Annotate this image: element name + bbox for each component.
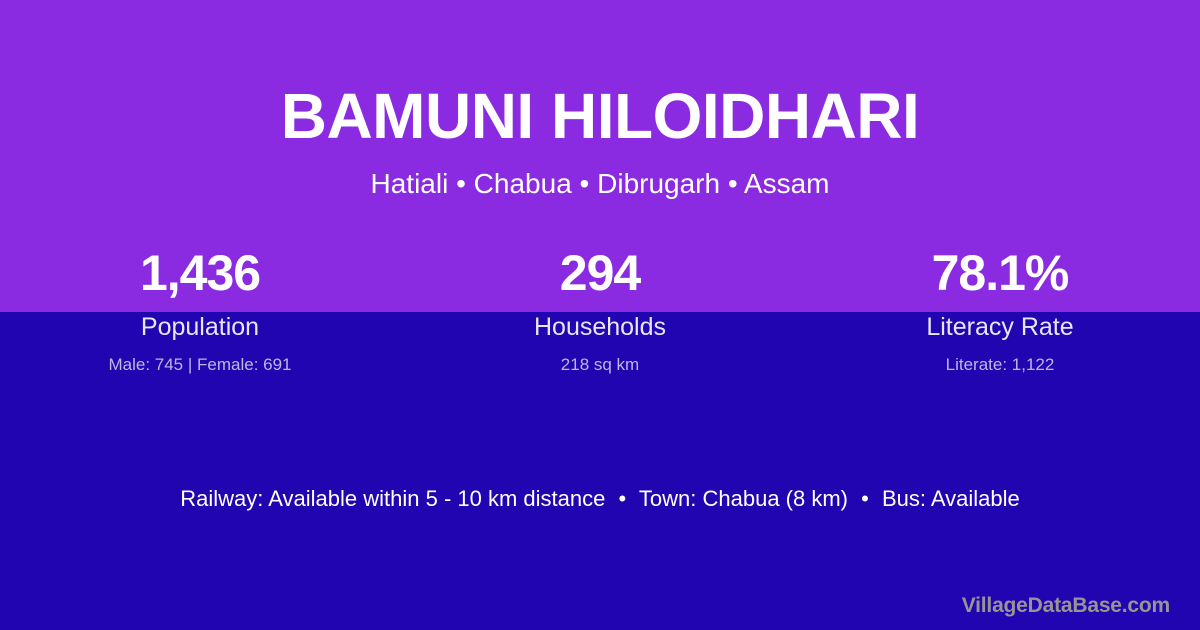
stat-detail: Male: 745 | Female: 691 [0, 356, 400, 373]
stat-detail: 218 sq km [400, 356, 800, 373]
bullet-separator-icon: • [854, 486, 876, 511]
stat-label: Households [400, 315, 800, 340]
card-header: BAMUNI HILOIDHARI Hatiali • Chabua • Dib… [0, 0, 1200, 198]
stat-population: 1,436 Population Male: 745 | Female: 691 [0, 248, 400, 373]
amenities-line: Railway: Available within 5 - 10 km dist… [0, 488, 1200, 510]
page-title: BAMUNI HILOIDHARI [0, 0, 1200, 148]
stat-households: 294 Households 218 sq km [400, 248, 800, 373]
stat-value: 1,436 [0, 248, 400, 298]
stat-label: Population [0, 315, 400, 340]
amenity-bus: Bus: Available [882, 486, 1020, 511]
stat-value: 78.1% [800, 248, 1200, 298]
stat-detail: Literate: 1,122 [800, 356, 1200, 373]
stat-value: 294 [400, 248, 800, 298]
amenity-railway: Railway: Available within 5 - 10 km dist… [180, 486, 605, 511]
breadcrumb: Hatiali • Chabua • Dibrugarh • Assam [0, 148, 1200, 198]
village-info-card: BAMUNI HILOIDHARI Hatiali • Chabua • Dib… [0, 0, 1200, 630]
bullet-separator-icon: • [611, 486, 633, 511]
site-brand-watermark: VillageDataBase.com [962, 595, 1170, 616]
stat-literacy-rate: 78.1% Literacy Rate Literate: 1,122 [800, 248, 1200, 373]
stat-label: Literacy Rate [800, 315, 1200, 340]
amenity-town: Town: Chabua (8 km) [639, 486, 848, 511]
stats-row: 1,436 Population Male: 745 | Female: 691… [0, 248, 1200, 373]
